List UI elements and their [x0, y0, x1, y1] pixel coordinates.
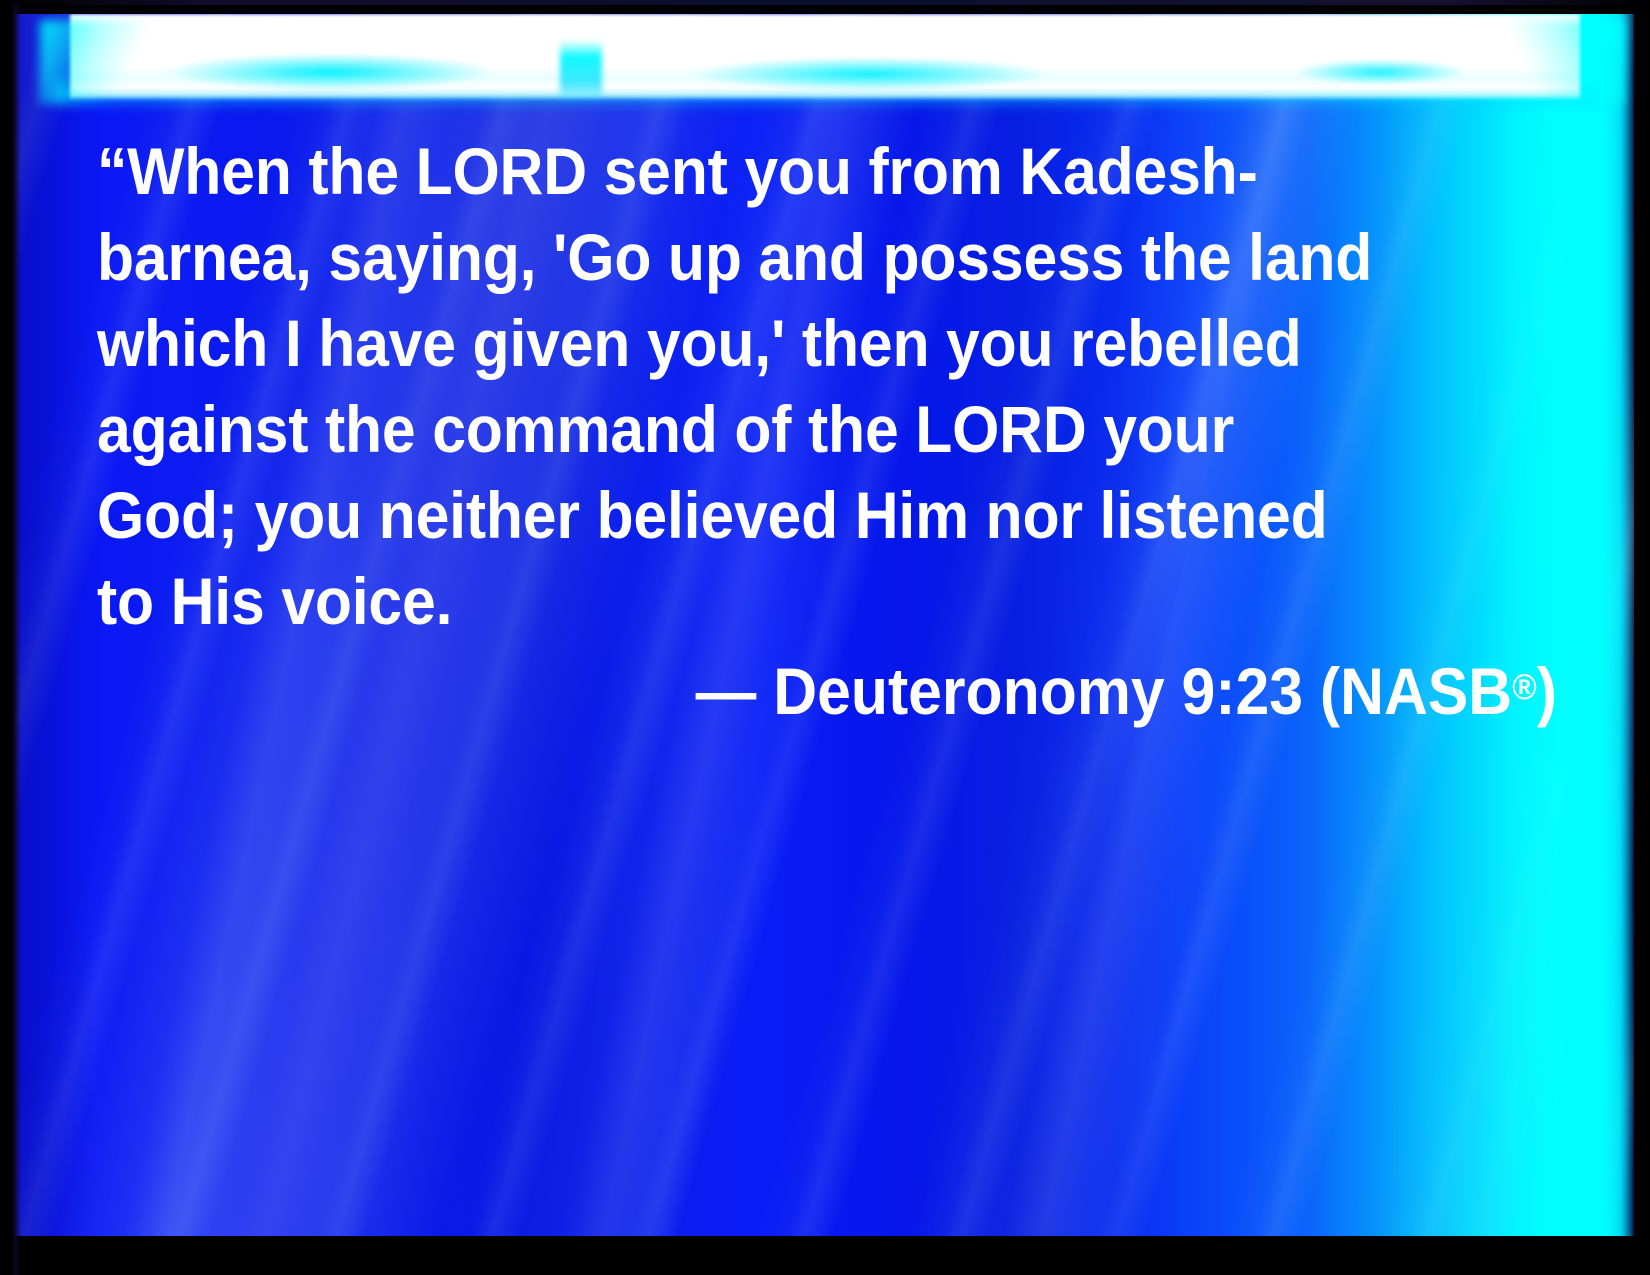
verse-text: “When the LORD sent you from Kadesh-barn… — [97, 128, 1385, 644]
top-glow-right-wedge — [1494, 20, 1624, 104]
attribution-reference: 9:23 — [1181, 654, 1303, 728]
registered-trademark-icon: ® — [1512, 666, 1537, 707]
verse-attribution: — Deuteronomy 9:23 (NASB®) — [214, 644, 1557, 734]
slide-canvas: “When the LORD sent you from Kadesh-barn… — [14, 14, 1634, 1236]
frame-border-right — [1634, 0, 1650, 1275]
attribution-dash: — — [696, 654, 757, 728]
frame-border-bottom — [0, 1236, 1650, 1275]
frame-border-left-inner-shadow — [11, 0, 21, 1275]
attribution-translation-open: (NASB — [1320, 654, 1512, 728]
verse-slide: “When the LORD sent you from Kadesh-barn… — [0, 0, 1650, 1275]
attribution-book: Deuteronomy — [773, 654, 1164, 728]
attribution-translation-close: ) — [1537, 654, 1557, 728]
top-glow-left-wedge — [40, 20, 160, 104]
frame-top-hairline — [0, 0, 1650, 5]
top-glow-center-notch — [560, 40, 602, 102]
top-glow-band — [70, 14, 1580, 100]
